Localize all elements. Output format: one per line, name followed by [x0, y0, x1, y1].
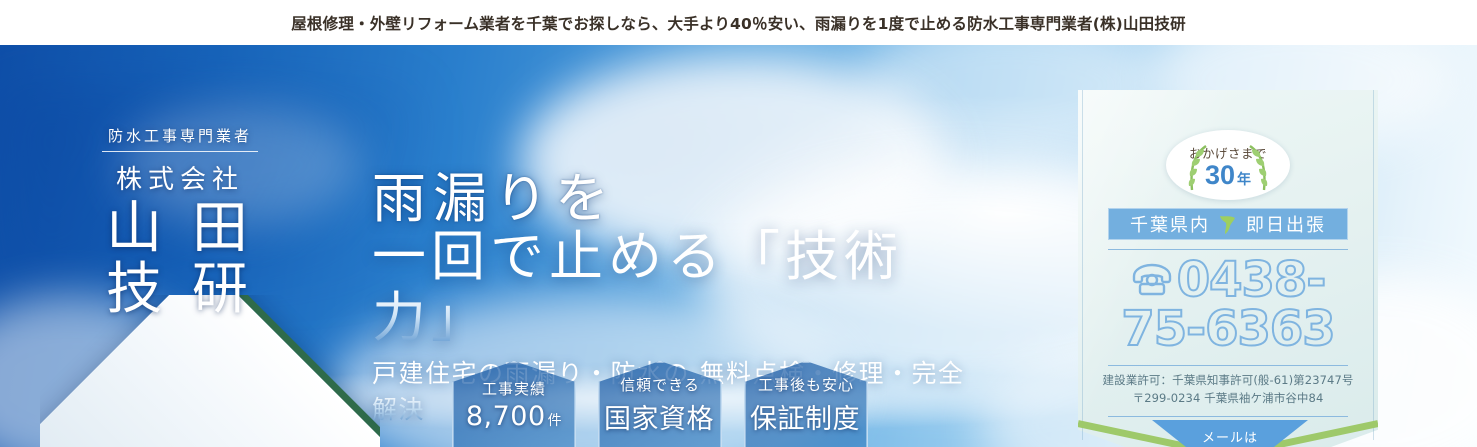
trust-badge-group: 工事実績 8,700 件 信頼できる 国家資格 工事後も安心 保証制度 [452, 361, 868, 447]
badge-value: 保証制度 [750, 397, 862, 436]
badge-unit: 件 [548, 410, 563, 430]
badge-number: 8,700 [466, 401, 546, 432]
headline-line1: 雨漏りを [372, 171, 972, 227]
logo-company-name-line1: 山 田 [100, 202, 260, 257]
badge-construction-record: 工事実績 8,700 件 [452, 361, 576, 447]
badge-value: 8,700 件 [466, 401, 562, 432]
badge-label: 工事実績 [482, 378, 546, 399]
badge-number: 保証制度 [750, 397, 860, 436]
badge-warranty-system: 工事後も安心 保証制度 [744, 361, 868, 447]
company-logo: 防水工事専門業者 株式会社 山 田 技 研 [100, 125, 260, 318]
badge-national-qualification: 信頼できる 国家資格 [598, 361, 722, 447]
headline-line2: 一回で止める「技術力」 [372, 227, 972, 348]
logo-company-type: 株式会社 [100, 159, 260, 196]
badge-value: 国家資格 [604, 397, 716, 436]
logo-divider [102, 151, 258, 152]
top-description-bar: 屋根修理・外壁リフォーム業者を千葉でお探しなら、大手より40％安い、雨漏りを1度… [0, 0, 1477, 45]
badge-number: 国家資格 [604, 397, 714, 436]
mail-chevron-wrap [1078, 90, 1378, 447]
badge-label: 工事後も安心 [758, 374, 854, 395]
contact-ribbon-content: おかげさまで 30 年 千葉県内 即日出張 [1078, 90, 1378, 447]
logo-company-name-line2: 技 研 [100, 263, 260, 318]
site-description-text: 屋根修理・外壁リフォーム業者を千葉でお探しなら、大手より40％安い、雨漏りを1度… [291, 12, 1186, 34]
hero-sky-background: 防水工事専門業者 株式会社 山 田 技 研 雨漏りを 一回で止める「技術力」 戸… [0, 45, 1477, 447]
hero-banner-page: 屋根修理・外壁リフォーム業者を千葉でお探しなら、大手より40％安い、雨漏りを1度… [0, 0, 1477, 447]
badge-label: 信頼できる [620, 374, 700, 395]
logo-tagline: 防水工事専門業者 [100, 125, 260, 151]
